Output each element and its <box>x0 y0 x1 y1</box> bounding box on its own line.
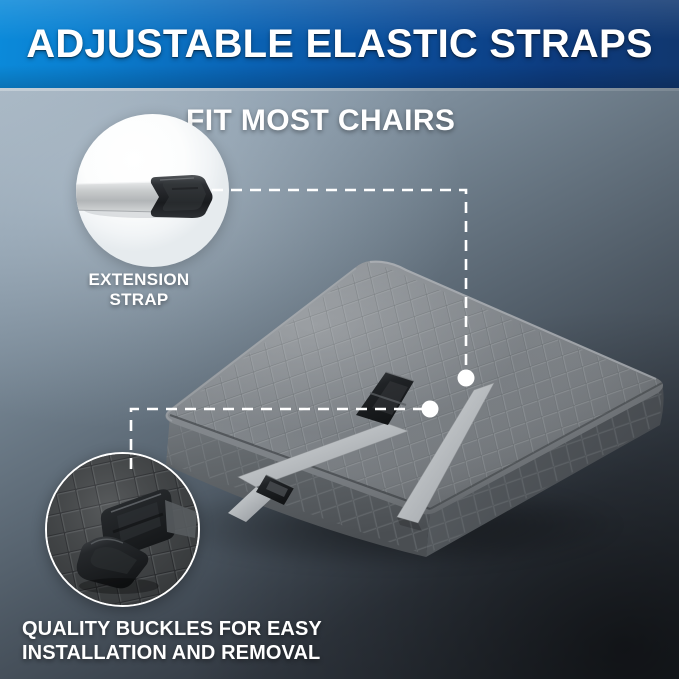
header-banner: ADJUSTABLE ELASTIC STRAPS <box>0 0 679 88</box>
webbing-strap <box>76 182 160 212</box>
label-extension-strap: EXTENSION STRAP <box>44 270 234 310</box>
side-release-buckle <box>151 175 213 218</box>
extension-strap-photo <box>76 114 229 267</box>
label-quality-buckles: QUALITY BUCKLES FOR EASY INSTALLATION AN… <box>22 617 452 666</box>
extension-strap-inset <box>76 114 229 267</box>
buckle-inset <box>45 452 200 607</box>
product-infographic: ADJUSTABLE ELASTIC STRAPS FIT MOST CHAIR… <box>0 0 679 679</box>
banner-shadow <box>0 65 679 88</box>
label-extension-strap-line1: EXTENSION STRAP <box>89 270 190 309</box>
buckle-photo <box>47 454 200 607</box>
banner-underline <box>0 88 679 91</box>
banner-title: ADJUSTABLE ELASTIC STRAPS <box>0 24 679 64</box>
headline-fit-most-chairs: FIT MOST CHAIRS <box>186 104 455 138</box>
